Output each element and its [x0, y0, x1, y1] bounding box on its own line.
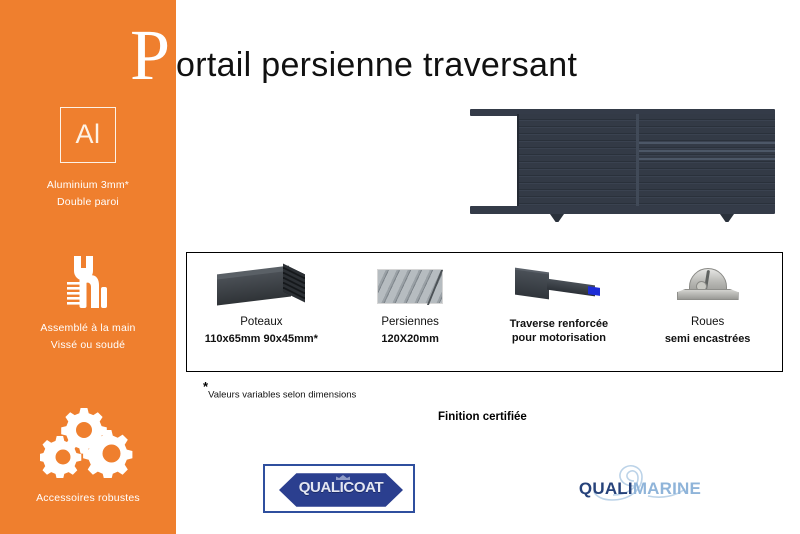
sidebar-item-assembly-label-1: Assemblé à la main: [0, 320, 176, 337]
gate-divider: [636, 114, 639, 208]
component-traverse-name: Traverse renforcée: [510, 318, 608, 330]
slide-root: Al Aluminium 3mm* Double paroi: [0, 0, 800, 534]
component-roues-spec: semi encastrées: [665, 333, 751, 345]
component-persiennes: Persiennes 120X20mm: [336, 253, 485, 371]
page-title-initial: P: [130, 19, 170, 91]
reinforced-crossbar-icon: [513, 260, 605, 312]
hand-wrench-icon: [0, 252, 176, 314]
qualimarine-logo-text: QUALIMARINE: [560, 479, 720, 499]
component-traverse: Traverse renforcée pour motorisation: [485, 253, 634, 371]
qualicoat-logo-text: QUALICOAT: [265, 479, 417, 496]
gate-panel: [517, 114, 775, 208]
aluminium-al-icon: Al: [60, 107, 116, 163]
component-persiennes-name: Persiennes: [381, 316, 439, 328]
qualimarine-text-marine: MARINE: [633, 479, 701, 498]
gate-wheel: [550, 214, 564, 222]
qualimarine-text-quali: QUALI: [579, 479, 633, 498]
aluminium-al-icon-text: Al: [61, 108, 115, 161]
sidebar-item-accessories-label-1: Accessoires robustes: [0, 490, 176, 507]
gears-icon: [0, 404, 176, 480]
sidebar-item-aluminium: Al Aluminium 3mm* Double paroi: [0, 107, 176, 211]
sliding-louvered-gate-photo: [470, 100, 775, 222]
gate-highlight: [639, 142, 775, 144]
component-poteaux-name: Poteaux: [240, 316, 282, 328]
qualimarine-logo: QUALIMARINE: [560, 460, 720, 516]
footnote-text: Valeurs variables selon dimensions: [208, 389, 356, 400]
component-poteaux: Poteaux 110x65mm 90x45mm*: [187, 253, 336, 371]
gate-highlight: [639, 158, 775, 160]
gate-wheel: [720, 214, 734, 222]
sidebar-item-assembly-label-2: Vissé ou soudé: [0, 337, 176, 354]
component-roues: Roues semi encastrées: [633, 253, 782, 371]
post-profile-icon: [213, 260, 309, 312]
component-roues-name: Roues: [691, 316, 724, 328]
sidebar-item-aluminium-label-2: Double paroi: [0, 194, 176, 211]
certification-heading: Finition certifiée: [438, 411, 527, 423]
sidebar-item-aluminium-label-1: Aluminium 3mm*: [0, 177, 176, 194]
component-traverse-spec: pour motorisation: [512, 332, 606, 344]
footnote: *Valeurs variables selon dimensions: [203, 379, 356, 402]
wheel-bearing-icon: [677, 260, 739, 312]
qualicoat-logo: QUALICOAT: [263, 464, 415, 513]
page-title-text: ortail persienne traversant: [176, 46, 577, 85]
gate-highlight: [639, 150, 775, 152]
component-poteaux-spec: 110x65mm 90x45mm*: [205, 333, 318, 345]
component-persiennes-spec: 120X20mm: [381, 333, 439, 345]
sidebar-item-accessories: Accessoires robustes: [0, 404, 176, 507]
gate-bottom-rail: [470, 206, 775, 214]
louver-slats-icon: [377, 260, 443, 312]
components-panel: Poteaux 110x65mm 90x45mm* Persiennes 120…: [186, 252, 783, 372]
sidebar-item-assembly: Assemblé à la main Vissé ou soudé: [0, 252, 176, 354]
